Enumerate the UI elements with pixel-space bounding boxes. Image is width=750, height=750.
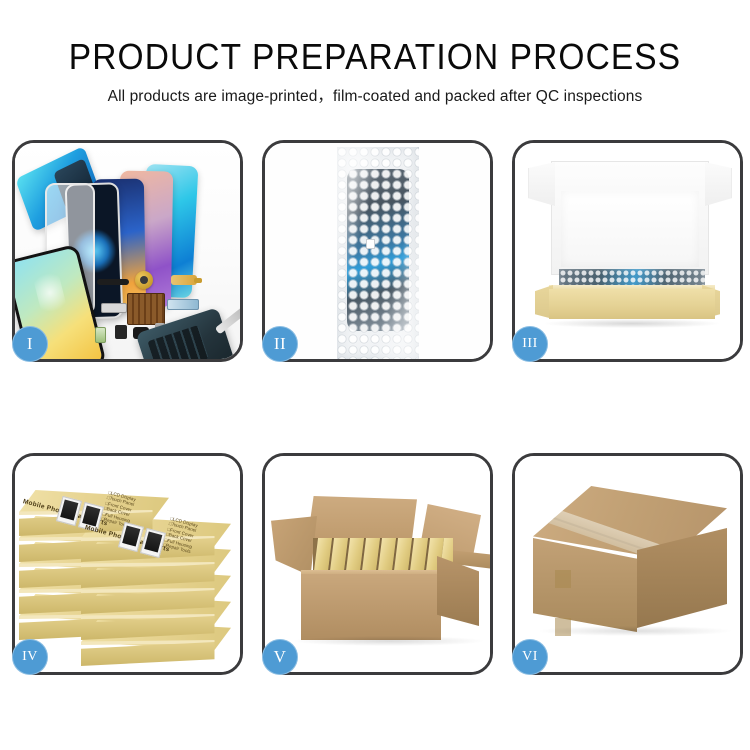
process-step-card-6: VI <box>512 453 743 675</box>
step-2-image <box>265 143 490 359</box>
sealed-carton <box>533 486 727 644</box>
step-badge-1: I <box>12 326 48 362</box>
carton-front-panel <box>301 574 441 640</box>
sealed-carton-scene <box>515 456 740 672</box>
speaker-coil-icon <box>135 271 153 289</box>
chip-grid-icon <box>127 293 165 325</box>
box-stack: Mobile Phone Spare Parts LCD Display Tou… <box>19 472 240 662</box>
process-step-card-1: I <box>12 140 243 362</box>
step-3-image <box>515 143 740 359</box>
step-badge-4: IV <box>12 639 48 675</box>
carton-tab-upper <box>555 570 571 588</box>
box-stack-scene: Mobile Phone Spare Parts LCD Display Tou… <box>15 456 240 672</box>
step-badge-2: II <box>262 326 298 362</box>
step-badge-3: III <box>512 326 548 362</box>
step-6-image <box>515 456 740 672</box>
flex-cable-1-icon <box>171 275 197 285</box>
process-step-card-3: III <box>512 140 743 362</box>
step-1-image <box>15 143 240 359</box>
speaker-icon <box>95 327 106 343</box>
product-preparation-infographic: PRODUCT PREPARATION PROCESS All products… <box>0 0 750 750</box>
carton-face-left <box>533 538 637 632</box>
process-step-card-4: Mobile Phone Spare Parts LCD Display Tou… <box>12 453 243 675</box>
step-badge-5: V <box>262 639 298 675</box>
step-5-image <box>265 456 490 672</box>
phone-parts-scene <box>15 143 240 359</box>
inner-box-scene <box>515 143 740 359</box>
box-shadow <box>545 319 719 328</box>
process-step-card-2: II <box>262 140 493 362</box>
open-carton <box>285 494 475 644</box>
open-carton-scene <box>265 456 490 672</box>
step-badge-6: VI <box>512 639 548 675</box>
carton-shadow <box>539 626 731 636</box>
step-4-image: Mobile Phone Spare Parts LCD Display Tou… <box>15 456 240 672</box>
camera-module-icon <box>115 325 127 339</box>
process-step-grid: I II <box>0 0 750 750</box>
label-tag-icon <box>366 239 375 249</box>
carton-side-panel <box>437 556 479 626</box>
flex-cable-2-icon <box>101 303 127 313</box>
antenna-strip-icon <box>97 279 129 285</box>
process-step-card-5: V <box>262 453 493 675</box>
plastic-sheen <box>337 147 419 359</box>
flex-cable-3-icon <box>167 299 199 310</box>
bubble-wrap-scene <box>265 143 490 359</box>
carton-flap-left <box>271 516 317 576</box>
box-front-panel <box>549 289 715 319</box>
foam-sheet-icon <box>561 191 699 267</box>
carton-shadow <box>295 636 483 646</box>
